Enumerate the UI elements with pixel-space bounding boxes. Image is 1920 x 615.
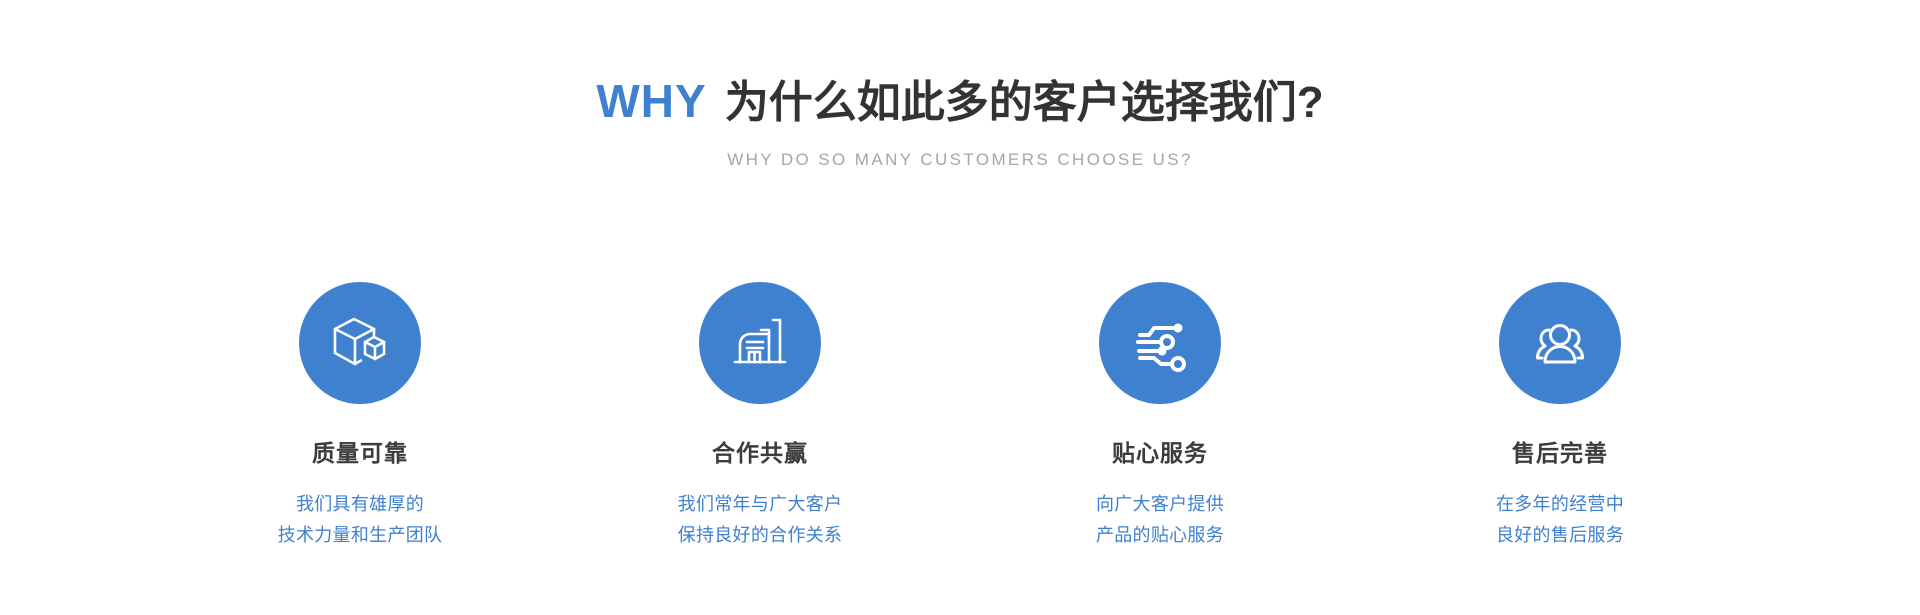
- feature-title: 售后完善: [1512, 440, 1608, 468]
- why-choose-us-section: WHY 为什么如此多的客户选择我们? WHY DO SO MANY CUSTOM…: [0, 0, 1920, 615]
- feature-description-line: 产品的贴心服务: [1096, 520, 1224, 551]
- feature-title: 合作共赢: [712, 440, 808, 468]
- feature-item-quality[interactable]: 质量可靠 我们具有雄厚的 技术力量和生产团队: [260, 282, 460, 551]
- feature-description-line: 良好的售后服务: [1496, 520, 1624, 551]
- feature-description-line: 我们常年与广大客户: [678, 489, 843, 520]
- feature-description: 向广大客户提供 产品的贴心服务: [1096, 489, 1224, 551]
- feature-icon-circle: [1099, 282, 1221, 404]
- feature-description-line: 保持良好的合作关系: [678, 520, 843, 551]
- package-box-icon: [327, 310, 393, 376]
- feature-description-line: 向广大客户提供: [1096, 489, 1224, 520]
- feature-list: 质量可靠 我们具有雄厚的 技术力量和生产团队: [260, 282, 1660, 551]
- section-subtitle: WHY DO SO MANY CUSTOMERS CHOOSE US?: [0, 150, 1920, 170]
- heading-row: WHY 为什么如此多的客户选择我们?: [0, 78, 1920, 125]
- feature-title: 质量可靠: [312, 440, 408, 468]
- feature-description-line: 技术力量和生产团队: [278, 520, 443, 551]
- heading-highlight-why: WHY: [596, 78, 706, 124]
- feature-icon-circle: [1499, 282, 1621, 404]
- feature-description: 在多年的经营中 良好的售后服务: [1496, 489, 1624, 551]
- section-header: WHY 为什么如此多的客户选择我们? WHY DO SO MANY CUSTOM…: [0, 78, 1920, 170]
- page-title: 为什么如此多的客户选择我们?: [725, 81, 1324, 125]
- factory-icon: [727, 310, 793, 376]
- feature-item-cooperation[interactable]: 合作共赢 我们常年与广大客户 保持良好的合作关系: [660, 282, 860, 551]
- feature-item-aftersales[interactable]: 售后完善 在多年的经营中 良好的售后服务: [1460, 282, 1660, 551]
- feature-title: 贴心服务: [1112, 440, 1208, 468]
- feature-icon-circle: [699, 282, 821, 404]
- feature-icon-circle: [299, 282, 421, 404]
- feature-description: 我们具有雄厚的 技术力量和生产团队: [278, 489, 443, 551]
- feature-description-line: 我们具有雄厚的: [278, 489, 443, 520]
- feature-description: 我们常年与广大客户 保持良好的合作关系: [678, 489, 843, 551]
- feature-description-line: 在多年的经营中: [1496, 489, 1624, 520]
- feature-item-service[interactable]: 贴心服务 向广大客户提供 产品的贴心服务: [1060, 282, 1260, 551]
- circuit-nodes-icon: [1128, 311, 1192, 375]
- people-group-icon: [1527, 310, 1593, 376]
